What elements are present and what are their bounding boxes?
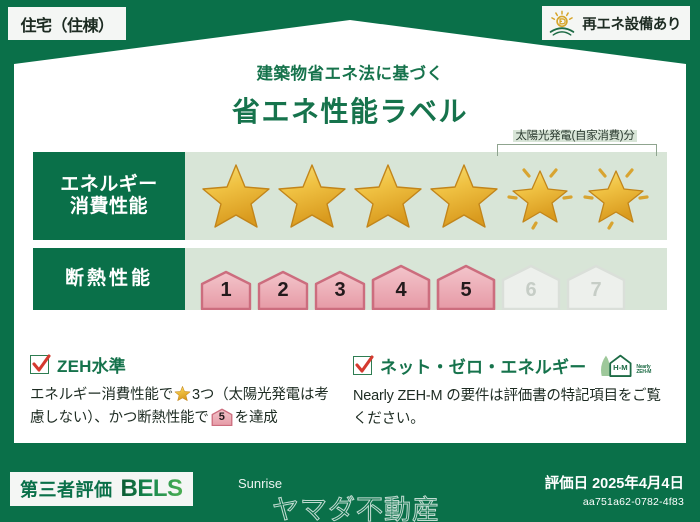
- house-badge: 2: [256, 270, 310, 310]
- housing-type-label: 住宅（住棟）: [20, 12, 113, 36]
- solar-sun-icon: [548, 10, 576, 36]
- title-block: 建築物省エネ法に基づく 省エネ性能ラベル: [0, 60, 700, 130]
- house-number: 2: [256, 279, 310, 302]
- bels-jp-label: 第三者評価: [20, 476, 113, 502]
- criterion-zeh-level: ZEH水準 エネルギー消費性能で3つ（太陽光発電は考慮しない）、かつ断熱性能で5…: [30, 352, 353, 432]
- criterion-zeh-header: ZEH水準: [30, 352, 341, 377]
- house-badge: 5: [435, 264, 497, 310]
- solar-bracket: [497, 144, 657, 156]
- row-energy-body: 太陽光発電(自家消費)分: [185, 152, 667, 240]
- house-number-inline: 5: [211, 409, 233, 427]
- footer: 第三者評価 BELS Sunrise ヤマダ不動産 評価日 2025年4月4日 …: [0, 462, 700, 522]
- row-energy-consumption: エネルギー 消費性能 太陽光発電(自家消費)分: [33, 152, 667, 240]
- evaluation-info: 評価日 2025年4月4日 aa751a62-0782-4f83: [545, 472, 684, 508]
- evaluation-id: aa751a62-0782-4f83: [545, 496, 684, 508]
- evaluation-date: 評価日 2025年4月4日: [545, 472, 684, 493]
- row-energy-label-line1: エネルギー: [60, 174, 158, 196]
- solar-annotation: 太陽光発電(自家消費)分: [491, 126, 659, 144]
- star-icon: [199, 159, 273, 233]
- house-badge-inactive: 7: [565, 264, 627, 310]
- renewable-badge-label: 再エネ設備あり: [582, 13, 681, 34]
- criterion-nze-body: Nearly ZEH-M の要件は評価書の特記項目をご覧ください。: [353, 385, 664, 432]
- star-icon-solar: [579, 159, 653, 233]
- star-icon-inline: [174, 385, 191, 402]
- criterion-zeh-text1: エネルギー消費性能で: [30, 387, 173, 403]
- performance-rows: エネルギー 消費性能 太陽光発電(自家消費)分: [33, 152, 667, 310]
- row-energy-label: エネルギー 消費性能: [33, 152, 185, 240]
- criterion-zeh-body: エネルギー消費性能で3つ（太陽光発電は考慮しない）、かつ断熱性能で5を達成: [30, 384, 341, 431]
- house-number: 6: [500, 279, 562, 302]
- row-energy-label-line2: 消費性能: [70, 196, 148, 218]
- title-subtitle: 建築物省エネ法に基づく: [0, 60, 700, 84]
- criteria-section: ZEH水準 エネルギー消費性能で3つ（太陽光発電は考慮しない）、かつ断熱性能で5…: [30, 352, 676, 432]
- house-badge-inactive: 6: [500, 264, 562, 310]
- criterion-nze-header: ネット・ゼロ・エネルギー H-M Nearly ZEH-M: [353, 352, 664, 378]
- svg-text:H-M: H-M: [614, 363, 628, 372]
- checkbox-checked-icon: [353, 356, 372, 375]
- zeh-m-caption-line2: ZEH-M: [636, 370, 651, 375]
- house-badge-inline: 5: [211, 408, 233, 426]
- zeh-m-logo-icon: H-M Nearly ZEH-M: [600, 352, 651, 378]
- bels-logo-text: BELS: [121, 475, 183, 503]
- criterion-nze-title: ネット・ゼロ・エネルギー: [380, 353, 586, 378]
- house-number: 3: [313, 279, 367, 302]
- star-icon: [275, 159, 349, 233]
- house-badge: 4: [370, 264, 432, 310]
- house-badge: 3: [313, 270, 367, 310]
- house-number: 1: [199, 279, 253, 302]
- renewable-equipment-badge: 再エネ設備あり: [542, 6, 690, 40]
- energy-performance-label: 住宅（住棟） 再エネ設備あり 建築物省エネ法に基づく 省エネ性能ラベル: [0, 0, 700, 522]
- star-icon: [351, 159, 425, 233]
- star-icon-solar: [503, 159, 577, 233]
- row-insulation-label: 断熱性能: [33, 248, 185, 310]
- insulation-grade-scale: 1 2 3 4 5: [185, 248, 627, 310]
- solar-annotation-label: 太陽光発電(自家消費)分: [513, 130, 636, 142]
- star-icon: [427, 159, 501, 233]
- house-number: 7: [565, 279, 627, 302]
- criterion-zeh-text3: を達成: [235, 410, 278, 426]
- house-number: 5: [435, 279, 497, 302]
- star-rating: [185, 159, 653, 233]
- row-insulation-body: 1 2 3 4 5: [185, 248, 667, 310]
- row-insulation: 断熱性能 1 2 3: [33, 248, 667, 310]
- page-title: 省エネ性能ラベル: [0, 90, 700, 130]
- checkbox-checked-icon: [30, 355, 49, 374]
- house-badge: 1: [199, 270, 253, 310]
- bels-certification-tag: 第三者評価 BELS: [10, 472, 193, 506]
- housing-type-tag: 住宅（住棟）: [8, 7, 126, 40]
- watermark-company-name: ヤマダ不動産: [272, 488, 440, 522]
- house-number: 4: [370, 279, 432, 302]
- criterion-net-zero-energy: ネット・ゼロ・エネルギー H-M Nearly ZEH-M Nearly ZEH…: [353, 352, 676, 432]
- criterion-zeh-title: ZEH水準: [57, 352, 126, 377]
- row-insulation-label-line1: 断熱性能: [65, 268, 153, 290]
